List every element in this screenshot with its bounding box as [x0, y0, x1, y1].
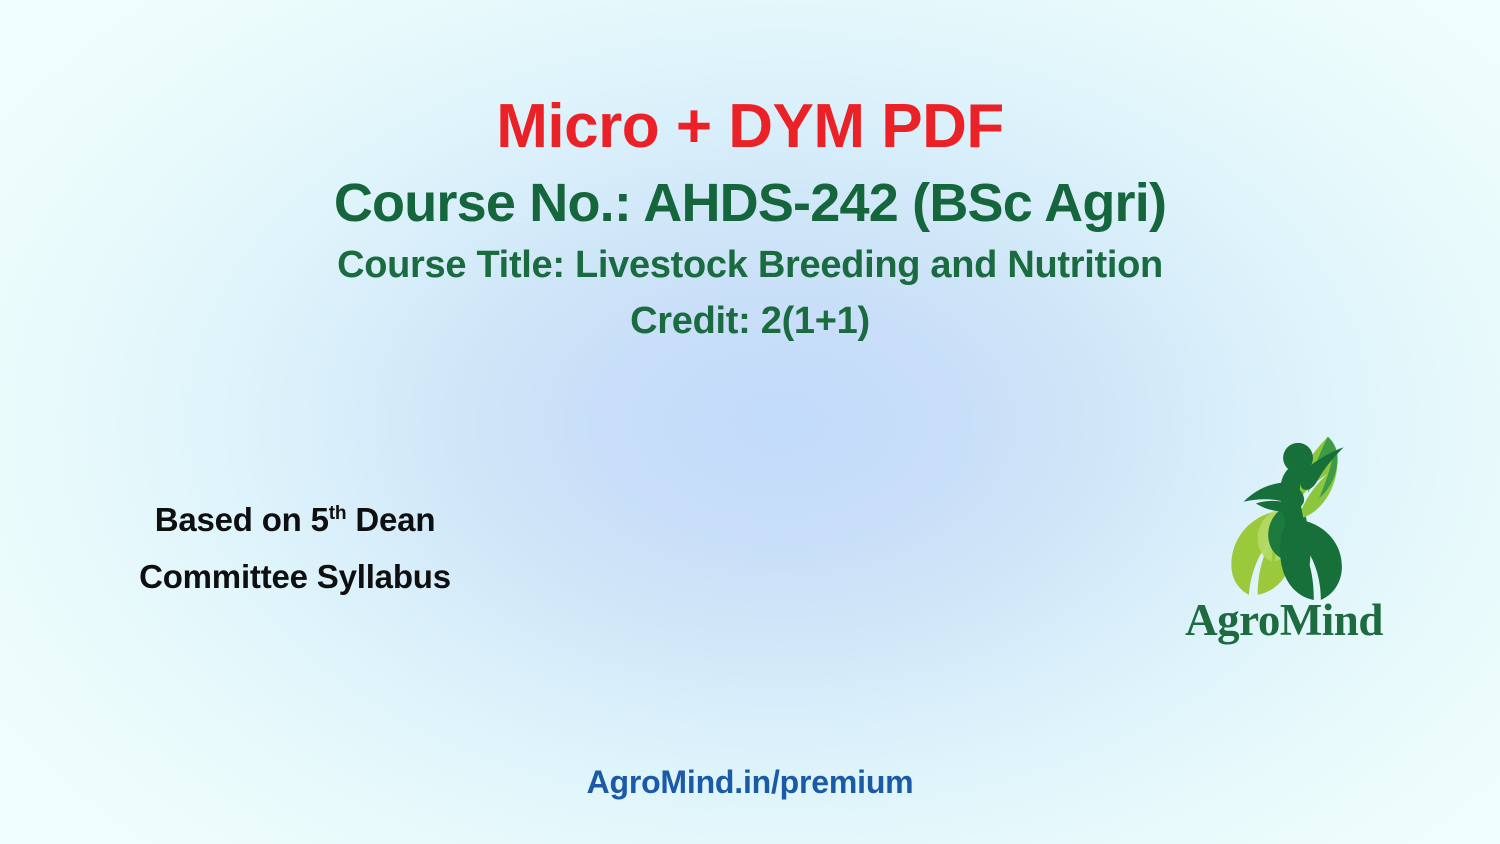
- course-title: Course Title: Livestock Breeding and Nut…: [0, 246, 1500, 284]
- syllabus-note-line-2: Committee Syllabus: [80, 549, 510, 606]
- brand-wordmark: AgroMind: [1168, 598, 1400, 643]
- syllabus-note-line-1-after: Dean: [346, 501, 435, 538]
- syllabus-note-ordinal-suffix: th: [329, 503, 347, 524]
- footer-url[interactable]: AgroMind.in/premium: [0, 764, 1500, 801]
- poster-canvas: Micro + DYM PDF Course No.: AHDS-242 (BS…: [0, 0, 1500, 844]
- product-label: Micro + DYM PDF: [0, 96, 1500, 158]
- agromind-leaf-figure-icon: [1195, 428, 1373, 600]
- headline-block: Micro + DYM PDF Course No.: AHDS-242 (BS…: [0, 96, 1500, 340]
- brand-logo: AgroMind: [1168, 428, 1400, 654]
- syllabus-note: Based on 5th Dean Committee Syllabus: [80, 492, 510, 606]
- course-credit: Credit: 2(1+1): [0, 302, 1500, 340]
- course-number: Course No.: AHDS-242 (BSc Agri): [0, 176, 1500, 230]
- syllabus-note-line-1: Based on 5th Dean: [80, 492, 510, 549]
- syllabus-note-line-1-before: Based on 5: [155, 501, 329, 538]
